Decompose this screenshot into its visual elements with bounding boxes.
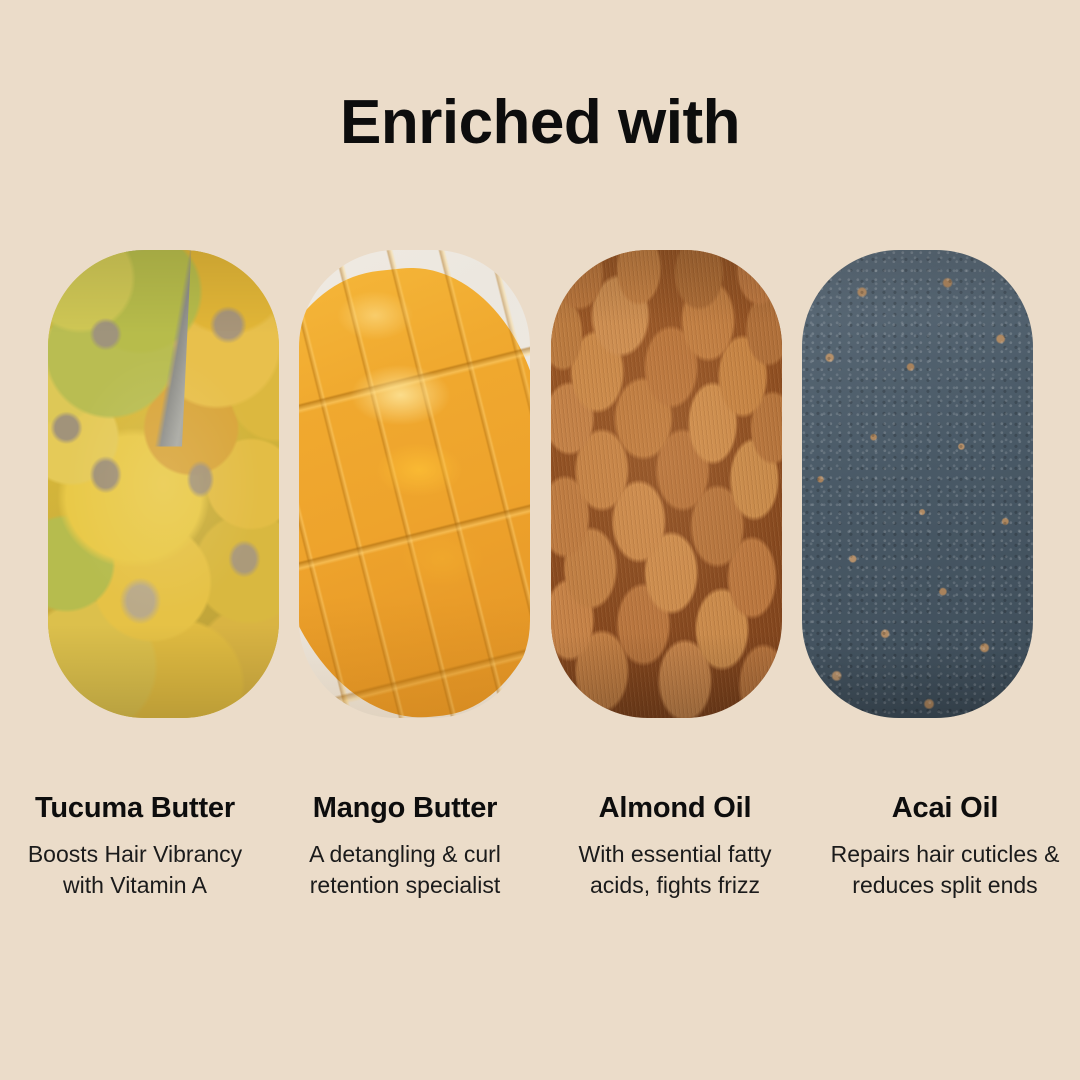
ingredient-title: Almond Oil xyxy=(540,792,810,825)
almond-shading-layer xyxy=(551,250,782,718)
ingredient-card-almond xyxy=(551,250,782,718)
ingredient-title: Mango Butter xyxy=(270,792,540,825)
caption-almond: Almond Oil With essential fatty acids, f… xyxy=(540,792,810,900)
tucuma-fruit-photo xyxy=(48,250,279,718)
ingredient-description: With essential fatty acids, fights frizz xyxy=(540,839,810,900)
ingredient-title: Tucuma Butter xyxy=(0,792,270,825)
caption-tucuma: Tucuma Butter Boosts Hair Vibrancy with … xyxy=(0,792,270,900)
caption-acai: Acai Oil Repairs hair cuticles & reduces… xyxy=(810,792,1080,900)
acai-berries-photo xyxy=(802,250,1033,718)
mango-photo xyxy=(299,250,530,718)
caption-mango: Mango Butter A detangling & curl retenti… xyxy=(270,792,540,900)
mango-highlight-layer xyxy=(299,250,530,718)
page-title: Enriched with xyxy=(0,90,1080,155)
ingredient-photo-grid xyxy=(48,250,1033,718)
ingredient-title: Acai Oil xyxy=(810,792,1080,825)
almond-photo xyxy=(551,250,782,718)
ingredient-caption-row: Tucuma Butter Boosts Hair Vibrancy with … xyxy=(0,792,1080,900)
ingredient-description: Repairs hair cuticles & reduces split en… xyxy=(810,839,1080,900)
tucuma-shading-layer xyxy=(48,250,279,718)
ingredient-description: A detangling & curl retention specialist xyxy=(270,839,540,900)
ingredient-card-mango xyxy=(299,250,530,718)
ingredient-infographic: Enriched with xyxy=(0,0,1080,1080)
ingredient-description: Boosts Hair Vibrancy with Vitamin A xyxy=(0,839,270,900)
ingredient-card-tucuma xyxy=(48,250,279,718)
acai-shading-layer xyxy=(802,250,1033,718)
ingredient-card-acai xyxy=(802,250,1033,718)
